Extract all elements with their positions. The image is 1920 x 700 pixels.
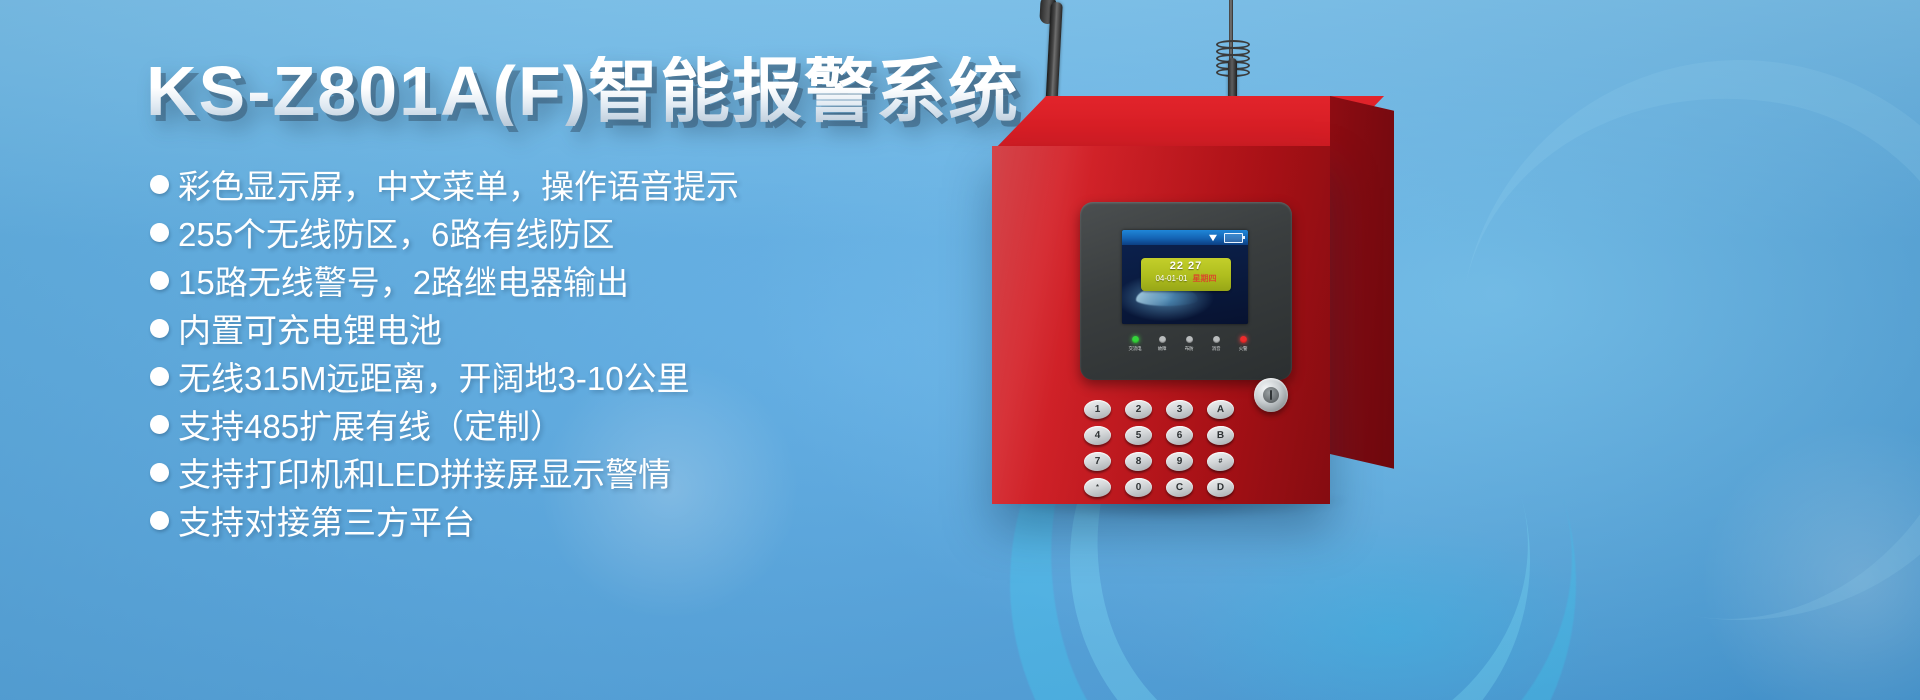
indicator-led-row: 交流电 故障 布防 消音 <box>1124 336 1254 351</box>
battery-icon <box>1224 233 1243 243</box>
feature-label: 支持485扩展有线（定制） <box>178 400 563 448</box>
indicator-label: 交流电 <box>1124 346 1146 351</box>
indicator-label: 火警 <box>1232 346 1254 351</box>
list-item: 255个无线防区，6路有线防区 <box>150 208 739 256</box>
feature-label: 255个无线防区，6路有线防区 <box>178 208 614 256</box>
keypad-key[interactable]: 9 <box>1166 452 1193 471</box>
led-icon <box>1159 336 1166 343</box>
keypad-key[interactable]: 1 <box>1084 400 1111 419</box>
keypad[interactable]: 1 2 3 A 4 5 6 B 7 8 9 # * 0 C D <box>1084 400 1240 497</box>
list-item: 彩色显示屏，中文菜单，操作语音提示 <box>150 160 739 208</box>
list-item: 支持打印机和LED拼接屏显示警情 <box>150 448 739 496</box>
keypad-key[interactable]: 3 <box>1166 400 1193 419</box>
indicator-mute: 消音 <box>1205 336 1227 351</box>
list-item: 支持对接第三方平台 <box>150 496 739 544</box>
bullet-icon <box>150 319 169 338</box>
bullet-icon <box>150 223 169 242</box>
list-item: 无线315M远距离，开阔地3-10公里 <box>150 352 739 400</box>
list-item: 内置可充电锂电池 <box>150 304 739 352</box>
keypad-key[interactable]: C <box>1166 478 1193 497</box>
page-title: KS-Z801A(F)智能报警系统 <box>146 56 1020 126</box>
feature-label: 无线315M远距离，开阔地3-10公里 <box>178 352 690 400</box>
keypad-key[interactable]: 8 <box>1125 452 1152 471</box>
product-image: 22 27 04-01-01 星期四 交流电 故障 <box>960 0 1920 700</box>
feature-label: 内置可充电锂电池 <box>178 304 442 352</box>
keypad-key[interactable]: B <box>1207 426 1234 445</box>
keypad-key[interactable]: 2 <box>1125 400 1152 419</box>
keypad-key[interactable]: 7 <box>1084 452 1111 471</box>
lcd-weekday: 星期四 <box>1193 273 1217 285</box>
led-icon <box>1213 336 1220 343</box>
keypad-key[interactable]: 5 <box>1125 426 1152 445</box>
cabinet-top-face <box>992 96 1384 152</box>
keypad-key[interactable]: D <box>1207 478 1234 497</box>
feature-label: 15路无线警号，2路继电器输出 <box>178 256 629 304</box>
keypad-key[interactable]: 0 <box>1125 478 1152 497</box>
feature-label: 支持对接第三方平台 <box>178 496 475 544</box>
keypad-key[interactable]: # <box>1207 452 1234 471</box>
key-lock[interactable] <box>1254 378 1288 412</box>
signal-icon <box>1209 234 1217 242</box>
control-panel: 22 27 04-01-01 星期四 交流电 故障 <box>1080 202 1292 380</box>
indicator-ac-power: 交流电 <box>1124 336 1146 351</box>
indicator-armed: 布防 <box>1178 336 1200 351</box>
keypad-key[interactable]: * <box>1084 478 1111 497</box>
indicator-label: 故障 <box>1151 346 1173 351</box>
lcd-date: 04-01-01 <box>1155 273 1187 285</box>
keypad-key[interactable]: 6 <box>1166 426 1193 445</box>
lcd-date-row: 04-01-01 星期四 <box>1141 273 1231 285</box>
bullet-icon <box>150 271 169 290</box>
bullet-icon <box>150 463 169 482</box>
lcd-status-bar <box>1122 230 1248 245</box>
lcd-info-box: 22 27 04-01-01 星期四 <box>1141 258 1231 291</box>
bullet-icon <box>150 415 169 434</box>
lcd-screen: 22 27 04-01-01 星期四 <box>1122 230 1248 324</box>
lock-icon <box>1263 387 1279 403</box>
indicator-fault: 故障 <box>1151 336 1173 351</box>
cabinet-side-face <box>1330 96 1394 469</box>
keypad-key[interactable]: A <box>1207 400 1234 419</box>
bullet-icon <box>150 367 169 386</box>
feature-label: 彩色显示屏，中文菜单，操作语音提示 <box>178 160 739 208</box>
led-icon <box>1132 336 1139 343</box>
led-icon <box>1240 336 1247 343</box>
indicator-fire-alarm: 火警 <box>1232 336 1254 351</box>
led-icon <box>1186 336 1193 343</box>
cabinet-front-face: 22 27 04-01-01 星期四 交流电 故障 <box>992 146 1330 504</box>
bullet-icon <box>150 175 169 194</box>
list-item: 15路无线警号，2路继电器输出 <box>150 256 739 304</box>
bullet-icon <box>150 511 169 530</box>
indicator-label: 布防 <box>1178 346 1200 351</box>
indicator-label: 消音 <box>1205 346 1227 351</box>
feature-label: 支持打印机和LED拼接屏显示警情 <box>178 448 671 496</box>
feature-list: 彩色显示屏，中文菜单，操作语音提示 255个无线防区，6路有线防区 15路无线警… <box>150 160 739 544</box>
list-item: 支持485扩展有线（定制） <box>150 400 739 448</box>
product-banner: KS-Z801A(F)智能报警系统 彩色显示屏，中文菜单，操作语音提示 255个… <box>0 0 1920 700</box>
lcd-time: 22 27 <box>1141 260 1231 273</box>
keypad-key[interactable]: 4 <box>1084 426 1111 445</box>
